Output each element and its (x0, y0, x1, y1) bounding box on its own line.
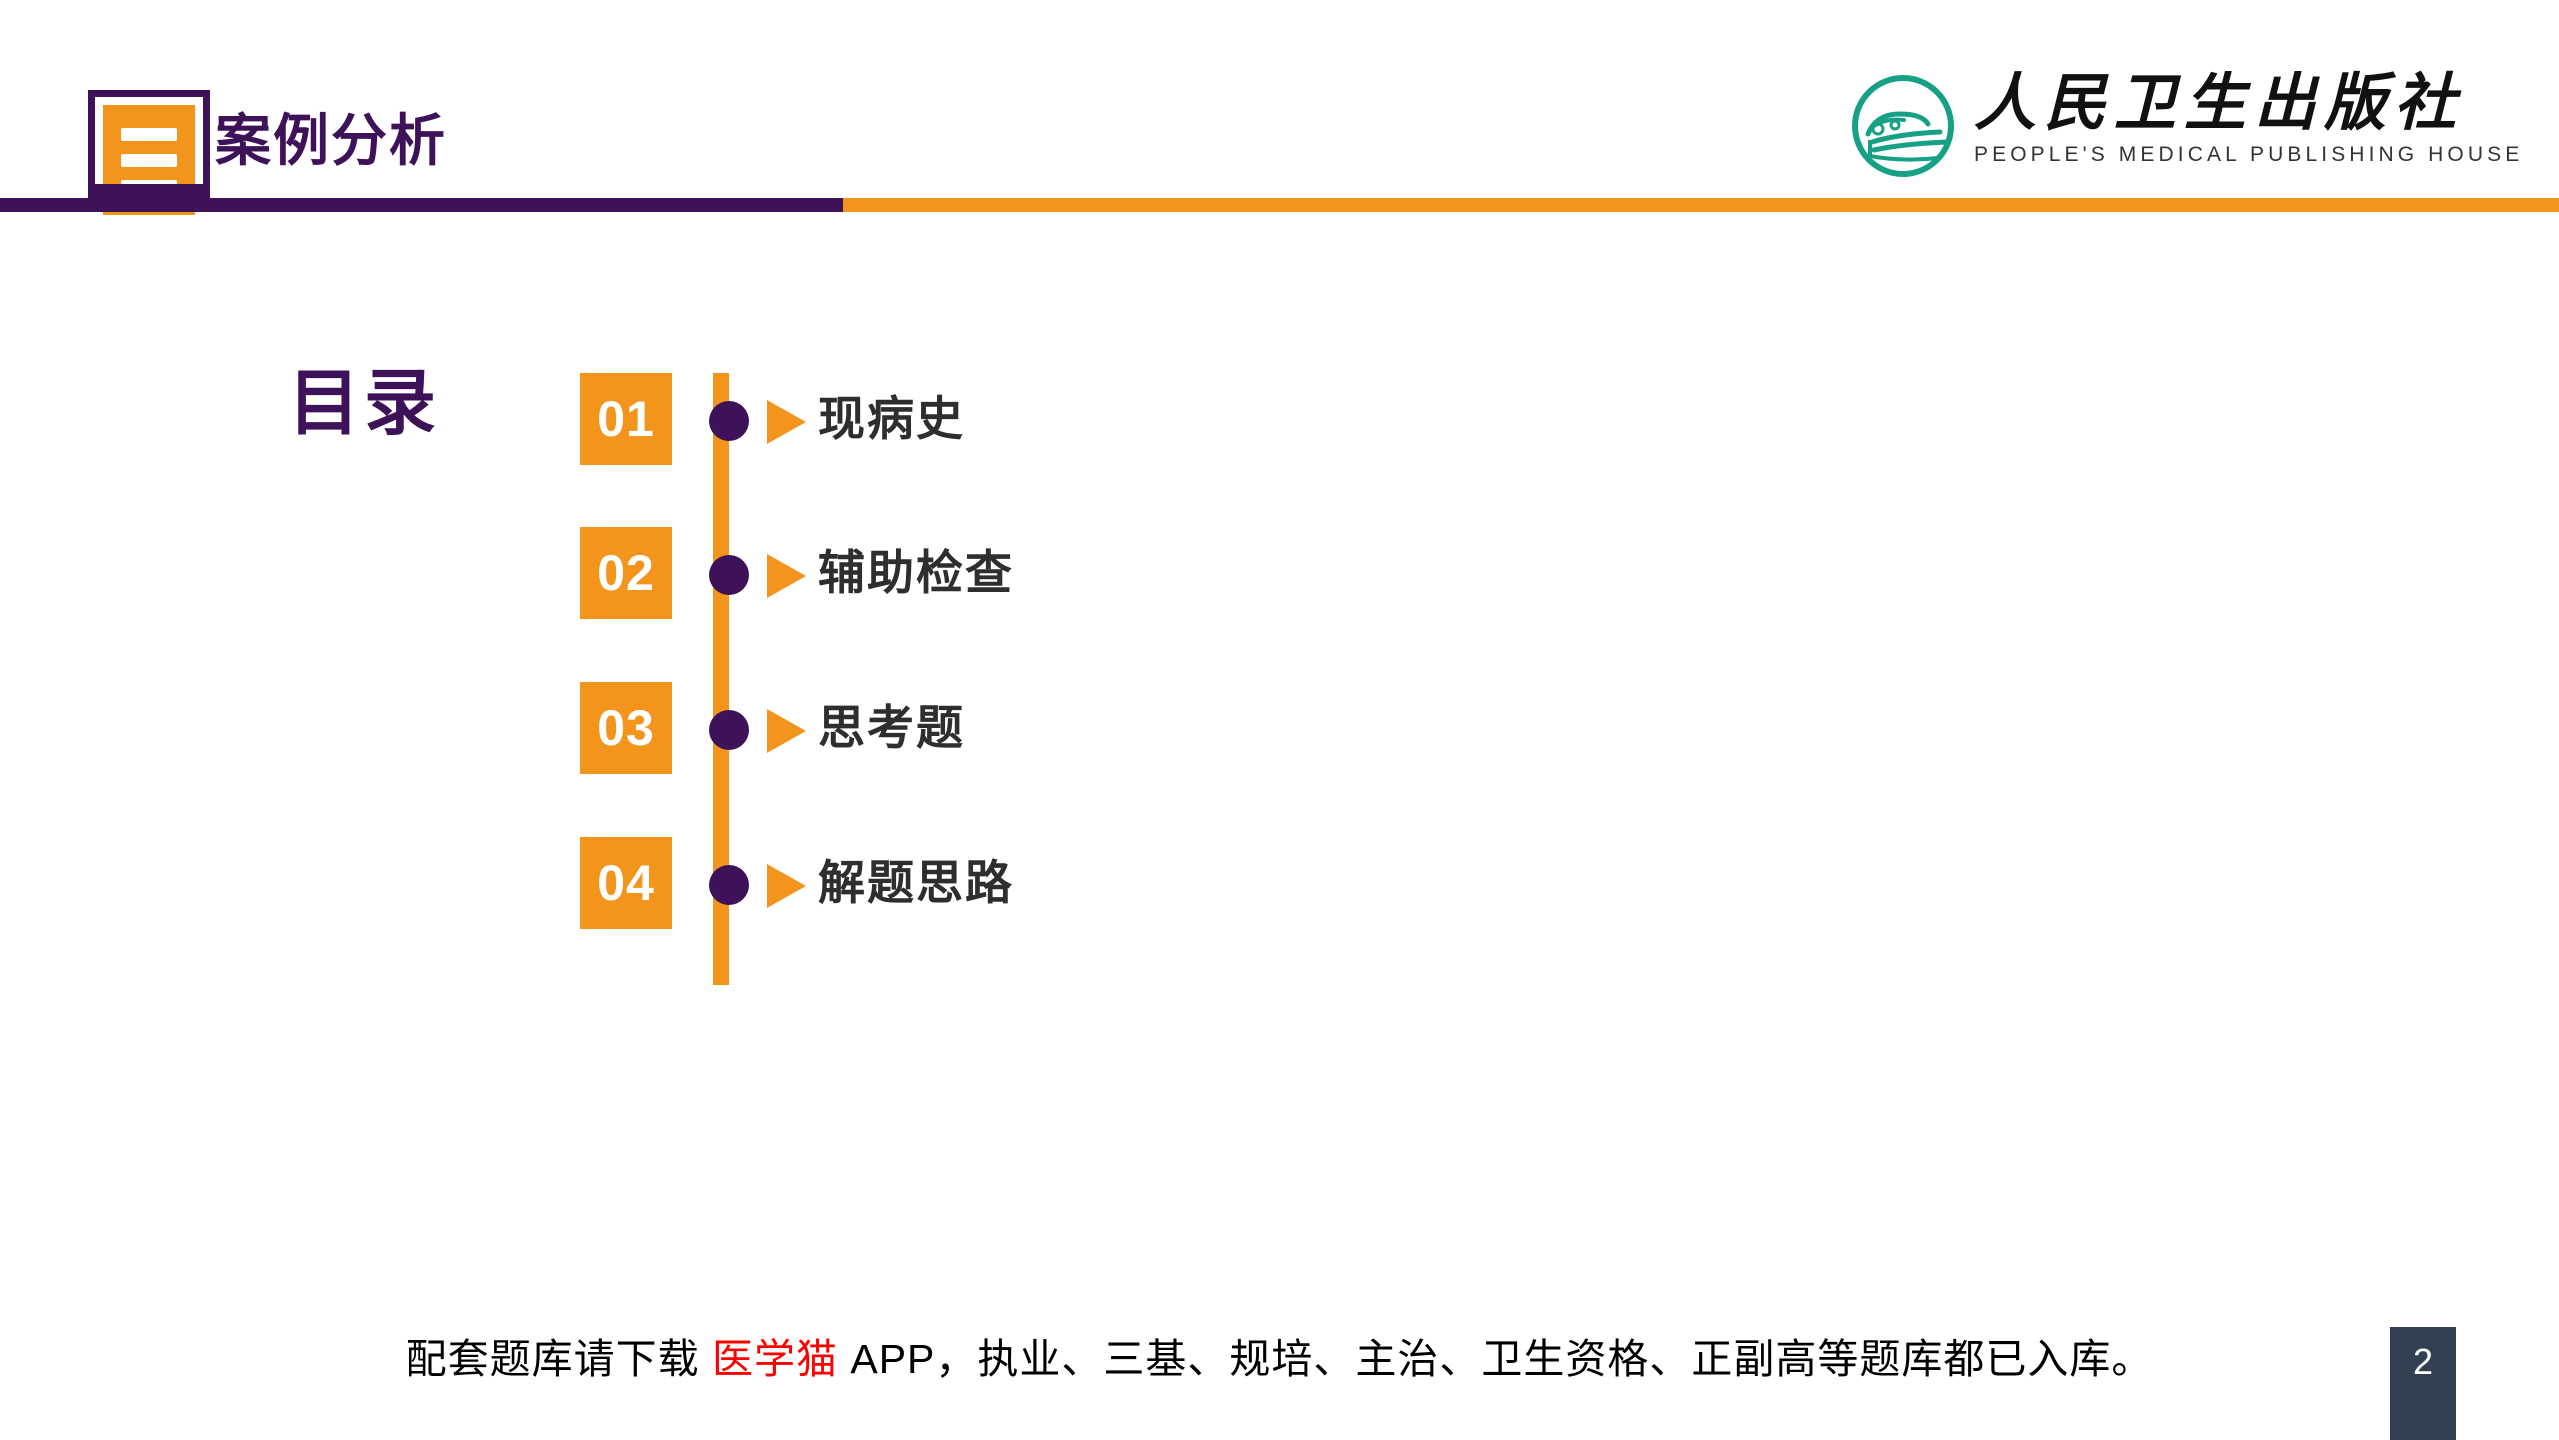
toc-item-02[interactable]: 02 辅助检查 (580, 527, 1380, 627)
play-triangle-icon (767, 400, 806, 444)
publisher-logo: 人民卫生出版社 PEOPLE'S MEDICAL PUBLISHING HOUS… (1848, 70, 2448, 195)
publisher-name-cn: 人民卫生出版社 (1974, 72, 2523, 137)
footer-prefix: 配套题库请下载 (406, 1336, 712, 1382)
toc-item-label: 辅助检查 (818, 541, 1014, 605)
toc-item-01[interactable]: 01 现病史 (580, 373, 1380, 473)
publisher-logo-text: 人民卫生出版社 PEOPLE'S MEDICAL PUBLISHING HOUS… (1974, 70, 2523, 167)
page-number-badge: 2 (2390, 1327, 2456, 1440)
toc-bullet-dot (709, 865, 749, 905)
hamburger-bar-2 (121, 154, 177, 167)
toc-item-label: 现病史 (818, 387, 965, 451)
toc-heading: 目录 (288, 368, 440, 440)
header-divider-orange (843, 198, 2559, 212)
publisher-emblem-icon (1848, 74, 1958, 179)
play-triangle-icon (767, 709, 806, 753)
toc-item-number: 03 (580, 682, 672, 774)
play-triangle-icon (767, 554, 806, 598)
footer-app-name: 医学猫 (712, 1336, 838, 1382)
header-icon-baseline (88, 184, 210, 198)
header-divider-purple (0, 198, 843, 212)
toc-item-04[interactable]: 04 解题思路 (580, 837, 1380, 937)
play-triangle-icon (767, 864, 806, 908)
toc-item-label: 解题思路 (818, 851, 1014, 915)
toc-item-number: 02 (580, 527, 672, 619)
toc-item-03[interactable]: 03 思考题 (580, 682, 1380, 782)
toc-item-number: 04 (580, 837, 672, 929)
toc-item-number: 01 (580, 373, 672, 465)
toc-item-label: 思考题 (818, 696, 965, 760)
toc-bullet-dot (709, 555, 749, 595)
toc-bullet-dot (709, 710, 749, 750)
footer-suffix: APP，执业、三基、规培、主治、卫生资格、正副高等题库都已入库。 (838, 1336, 2153, 1382)
footer-note: 配套题库请下载 医学猫 APP，执业、三基、规培、主治、卫生资格、正副高等题库都… (0, 1325, 2559, 1385)
header-divider-gap (215, 184, 843, 198)
publisher-name-en: PEOPLE'S MEDICAL PUBLISHING HOUSE (1974, 143, 2523, 167)
hamburger-bar-1 (121, 128, 177, 141)
toc-list: 01 现病史 02 辅助检查 03 思考题 04 解题思路 (0, 0, 2559, 1440)
page-title: 案例分析 (215, 113, 447, 169)
toc-bullet-dot (709, 401, 749, 441)
slide-canvas: 案例分析 人民卫生出版社 PEOPLE'S MEDICAL PUBLISHING… (0, 0, 2559, 1440)
